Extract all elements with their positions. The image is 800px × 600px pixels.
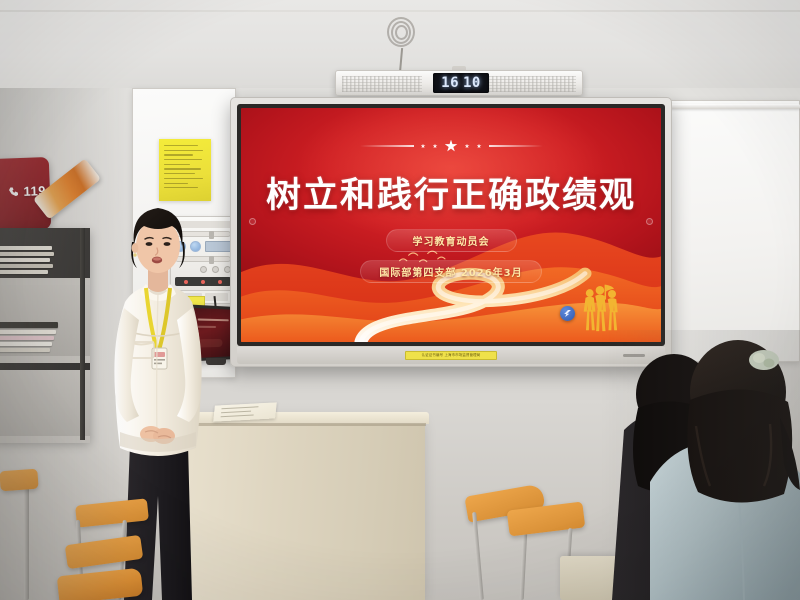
phone-icon [9,187,18,196]
divider-line-left [360,145,414,147]
presentation-slide: 树立和践行正确政绩观 学习教育动员会 国际部第四支部 2026年3月 [241,108,661,342]
star-icon-5 [477,144,482,149]
board-bezel-inner: 树立和践行正确政绩观 学习教育动员会 国际部第四支部 2026年3月 [237,104,665,346]
book-stack-middle [0,322,60,354]
digital-clock: 16 10 [433,73,489,93]
whiteboard-rail-right [664,104,800,109]
chair-leg-3 [24,486,29,600]
interactive-smart-board[interactable]: SMART BOARD [230,97,672,367]
slide-corner-dot-right [646,218,653,225]
shelf-post-right [80,228,85,440]
star-icon-4 [465,144,470,149]
emblem-badge-icon [560,306,575,321]
shelf-bay-lower [0,370,90,440]
book-stack-top [0,246,60,276]
lectern-podium [185,418,425,600]
classroom-photo-scene: 16 10 119 [0,0,800,600]
classroom-safety-notice [159,139,211,201]
star-divider [241,140,661,153]
shelf-plate-top [0,278,90,285]
divider-line-right [489,145,543,147]
soundbar-grill-left [342,76,422,92]
slide-meta-pill: 国际部第四支部 2026年3月 [360,260,541,283]
ceiling-seam [0,10,800,12]
board-certification-text: 认证证书编号 上海市市场监督管理局 [422,354,481,357]
star-icon-center [445,140,458,153]
shelf-plate-mid [0,356,90,363]
star-icon-1 [421,144,426,149]
slide-pill-group: 学习教育动员会 国际部第四支部 2026年3月 [241,229,661,283]
slide-corner-dot-left [249,218,256,225]
star-icon-2 [433,144,438,149]
clock-hours: 16 [441,76,459,90]
audience-member-front [648,330,800,600]
soundbar-grill-right [484,76,576,92]
whiteboard-panel-right [668,100,800,362]
slide-subtitle-pill: 学习教育动员会 [386,229,517,252]
crowd-silhouette-graphic [571,281,627,333]
board-chin-bar: 认证证书编号 上海市市场监督管理局 [237,347,665,364]
papers-on-podium [213,402,277,421]
slide-title: 树立和践行正确政绩观 [241,167,661,218]
podium-edge-lip [185,423,426,426]
clock-minutes: 10 [463,76,481,90]
chair-back-3 [0,469,39,492]
shelf-plate-bottom [0,436,90,443]
board-certification-label: 认证证书编号 上海市市场监督管理局 [405,351,497,360]
